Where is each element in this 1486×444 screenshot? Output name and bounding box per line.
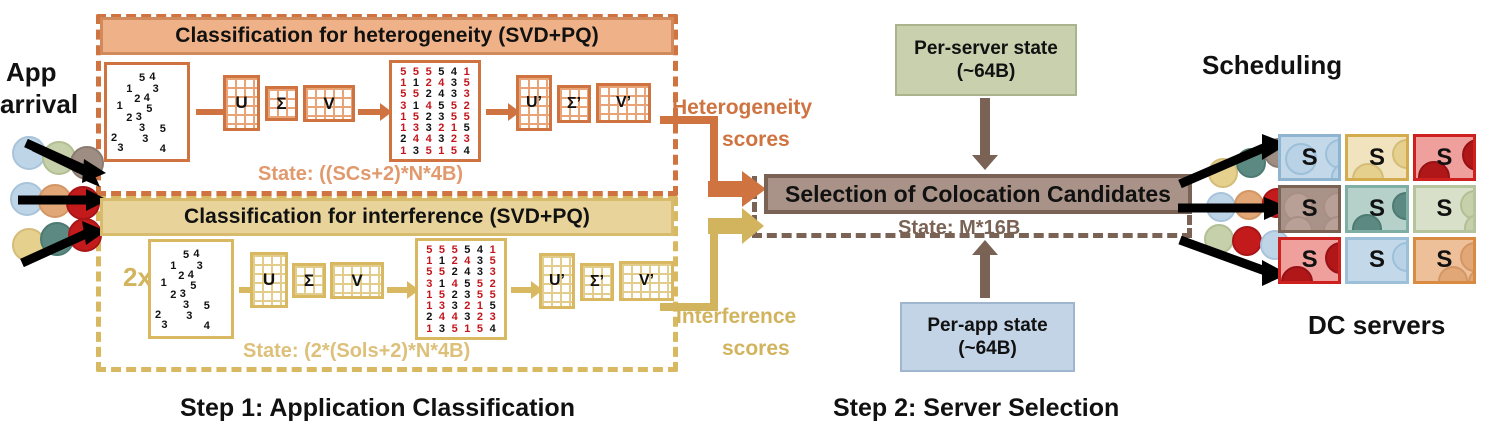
matrix-cell: 5 — [436, 267, 449, 278]
heterogeneity-score-label-line2: scores — [722, 128, 790, 152]
matrix-cell: 1 — [423, 324, 436, 335]
step2-caption: Step 2: Server Selection — [833, 394, 1119, 423]
matrix-cell: 4 — [461, 267, 474, 278]
matrix-cell: 2 — [448, 134, 461, 145]
matrix-row: 112435 — [423, 256, 499, 267]
per-app-state-arrow — [972, 240, 998, 298]
per-app-state-box: Per-app state (~64B) — [900, 302, 1075, 372]
matrix-row: 552433 — [397, 89, 473, 100]
interference-sparse-matrix: 5413241523352334 — [148, 239, 234, 339]
matrix-row: 244323 — [423, 312, 499, 323]
interference-score-label-line1: Interference — [676, 305, 796, 329]
interference-sparse-cell: 4 — [204, 321, 210, 332]
matrix-cell: 4 — [435, 89, 448, 100]
matrix-cell: 2 — [474, 312, 487, 323]
heterogeneity-block-Sigma: Σ — [265, 86, 298, 121]
matrix-cell: 5 — [448, 324, 461, 335]
per-app-state-line1: Per-app state — [927, 314, 1047, 337]
heterogeneity-block-U: U — [223, 75, 260, 131]
dc-server-app-dot — [1392, 139, 1408, 169]
matrix-row: 135154 — [397, 146, 473, 157]
heterogeneity-sparse-cell: 2 — [111, 133, 117, 144]
matrix-cell: 4 — [422, 134, 435, 145]
dc-server-label: S — [1369, 144, 1385, 172]
dc-server-label: S — [1369, 195, 1385, 223]
heterogeneity-state-caption: State: ((SCs+2)*N*4B) — [258, 163, 463, 186]
dc-server-label: S — [1302, 144, 1318, 172]
dc-servers-grid: SSSSSSSSS — [1278, 134, 1476, 284]
heterogeneity-block-U-prime: U’ — [516, 75, 552, 131]
matrix-cell: 4 — [448, 312, 461, 323]
matrix-cell: 4 — [460, 146, 473, 157]
interference-sparse-cell: 2 — [178, 271, 184, 282]
diagram-canvas: App arrival Classification for heterogen… — [0, 0, 1486, 444]
heterogeneity-sparse-cell: 5 — [146, 104, 152, 115]
matrix-cell: 2 — [423, 312, 436, 323]
selection-of-colocation-candidates-bar[interactable]: Selection of Colocation Candidates — [764, 174, 1192, 214]
matrix-row: 314552 — [397, 101, 473, 112]
matrix-row: 133215 — [423, 301, 499, 312]
matrix-row: 135154 — [423, 324, 499, 335]
interference-header: Classification for interference (SVD+PQ) — [100, 198, 674, 236]
heterogeneity-sparse-cell: 3 — [153, 84, 159, 95]
matrix-cell: 5 — [410, 89, 423, 100]
dc-server-cell[interactable]: S — [1413, 134, 1476, 181]
scheduling-label: Scheduling — [1202, 50, 1342, 81]
dc-server-app-dot — [1323, 216, 1341, 232]
dc-server-label: S — [1302, 195, 1318, 223]
dc-server-app-dot — [1392, 242, 1408, 272]
matrix-cell: 3 — [448, 89, 461, 100]
interference-sparse-cell: 3 — [197, 261, 203, 272]
app-arrival-label-line1: App — [6, 58, 57, 87]
step1-caption: Step 1: Application Classification — [180, 394, 575, 423]
dc-server-cell[interactable]: S — [1278, 185, 1341, 232]
matrix-cell: 4 — [436, 312, 449, 323]
matrix-cell: 5 — [448, 146, 461, 157]
dc-server-app-dot — [1460, 190, 1476, 220]
interference-sparse-cell: 2 — [170, 290, 176, 301]
dc-servers-label: DC servers — [1308, 310, 1445, 341]
selection-state-caption: State: M*16B — [898, 217, 1020, 240]
dc-server-label: S — [1436, 246, 1452, 274]
per-server-state-line1: Per-server state — [914, 37, 1058, 60]
interference-block-U-prime: U’ — [539, 253, 575, 309]
heterogeneity-sparse-cell: 2 — [126, 113, 132, 124]
matrix-row: 314552 — [423, 279, 499, 290]
matrix-cell: 3 — [460, 89, 473, 100]
dc-server-label: S — [1436, 195, 1452, 223]
heterogeneity-sparse-cell: 4 — [149, 72, 155, 83]
dc-server-app-dot — [1325, 139, 1341, 169]
dc-server-cell[interactable]: S — [1278, 134, 1341, 181]
matrix-cell: 5 — [423, 267, 436, 278]
interference-sparse-cell: 5 — [190, 281, 196, 292]
dc-server-cell[interactable]: S — [1413, 185, 1476, 232]
matrix-row: 552433 — [423, 267, 499, 278]
heterogeneity-block-Sigma-prime: Σ’ — [557, 85, 591, 123]
matrix-row: 555541 — [397, 67, 473, 78]
dc-server-cell[interactable]: S — [1345, 237, 1408, 284]
heterogeneity-block-V: V — [303, 85, 355, 122]
matrix-row: 555541 — [423, 245, 499, 256]
heterogeneity-sparse-cell: 3 — [142, 134, 148, 145]
dc-server-app-dot — [1462, 139, 1476, 171]
matrix-cell: 3 — [486, 267, 499, 278]
interference-dense-matrix: 5555411124355524333145521523551332152443… — [415, 238, 507, 340]
dc-server-app-dot — [1460, 242, 1476, 272]
interference-state-caption: State: (2*(Sols+2)*N*4B) — [243, 340, 470, 363]
matrix-cell: 3 — [435, 134, 448, 145]
interference-block-Sigma-prime: Σ’ — [580, 263, 614, 301]
dc-server-cell[interactable]: S — [1345, 185, 1408, 232]
heterogeneity-dense-matrix: 5555411124355524333145521523551332152443… — [389, 60, 481, 162]
matrix-row: 133215 — [397, 123, 473, 134]
heterogeneity-score-label-line1: Heterogeneity — [672, 96, 812, 120]
dc-server-label: S — [1369, 246, 1385, 274]
app-arrival-label-line2: arrival — [0, 90, 78, 119]
per-server-state-box: Per-server state (~64B) — [895, 24, 1077, 96]
matrix-cell: 2 — [397, 134, 410, 145]
matrix-row: 152355 — [397, 112, 473, 123]
heterogeneity-sparse-cell: 2 — [134, 94, 140, 105]
dc-server-app-dot — [1392, 192, 1408, 220]
interference-sparse-cell: 1 — [170, 261, 176, 272]
heterogeneity-sparse-cell: 5 — [139, 73, 145, 84]
interference-sparse-cell: 2 — [155, 310, 161, 321]
matrix-cell: 3 — [461, 312, 474, 323]
interference-dense-table: 5555411124355524333145521523551332152443… — [423, 245, 499, 335]
heterogeneity-dense-table: 5555411124355524333145521523551332152443… — [397, 67, 473, 157]
dc-server-cell[interactable]: S — [1278, 237, 1341, 284]
matrix-cell: 5 — [397, 89, 410, 100]
interference-sparse-cell: 3 — [186, 311, 192, 322]
matrix-cell: 3 — [460, 134, 473, 145]
heterogeneity-sparse-cell: 4 — [160, 144, 166, 155]
interference-block-Sigma: Σ — [292, 263, 326, 298]
per-server-state-line2: (~64B) — [957, 60, 1016, 83]
interference-block-U: U — [250, 252, 288, 308]
interference-sparse-cell: 5 — [204, 301, 210, 312]
heterogeneity-block-V-prime: V’ — [596, 83, 651, 123]
dc-server-label: S — [1302, 246, 1318, 274]
matrix-cell: 1 — [461, 324, 474, 335]
matrix-cell: 1 — [435, 146, 448, 157]
matrix-cell: 5 — [422, 146, 435, 157]
per-app-state-line2: (~64B) — [958, 337, 1017, 360]
dc-server-cell[interactable]: S — [1413, 237, 1476, 284]
interference-sparse-cell: 3 — [161, 320, 167, 331]
matrix-cell: 3 — [436, 324, 449, 335]
matrix-row: 244323 — [397, 134, 473, 145]
interference-sparse-cell: 1 — [161, 278, 167, 289]
matrix-cell: 5 — [474, 324, 487, 335]
matrix-cell: 3 — [410, 146, 423, 157]
heterogeneity-header: Classification for heterogeneity (SVD+PQ… — [100, 17, 674, 55]
matrix-cell: 4 — [486, 324, 499, 335]
heterogeneity-sparse-cell: 1 — [117, 101, 123, 112]
matrix-row: 112435 — [397, 78, 473, 89]
matrix-cell: 4 — [410, 134, 423, 145]
heterogeneity-sparse-cell: 1 — [126, 84, 132, 95]
dc-server-label: S — [1436, 144, 1452, 172]
matrix-cell: 2 — [422, 89, 435, 100]
matrix-row: 152355 — [423, 290, 499, 301]
per-server-state-arrow — [972, 98, 998, 170]
heterogeneity-arrow-2 — [358, 103, 392, 121]
matrix-cell: 3 — [486, 312, 499, 323]
interference-score-label-line2: scores — [722, 337, 790, 361]
interference-sparse-cell: 5 — [183, 250, 189, 261]
matrix-cell: 2 — [448, 267, 461, 278]
interference-block-V: V — [330, 262, 384, 299]
interference-sparse-cell: 4 — [193, 249, 199, 260]
heterogeneity-sparse-matrix: 5413241523352334 — [104, 62, 190, 162]
heterogeneity-sparse-cell: 5 — [160, 124, 166, 135]
heterogeneity-arrow-3 — [486, 103, 520, 121]
matrix-cell: 3 — [474, 267, 487, 278]
dc-server-cell[interactable]: S — [1345, 134, 1408, 181]
matrix-cell: 1 — [397, 146, 410, 157]
dc-server-app-dot — [1325, 242, 1341, 274]
app-arrival-arrows — [0, 125, 110, 285]
heterogeneity-sparse-cell: 3 — [117, 143, 123, 154]
